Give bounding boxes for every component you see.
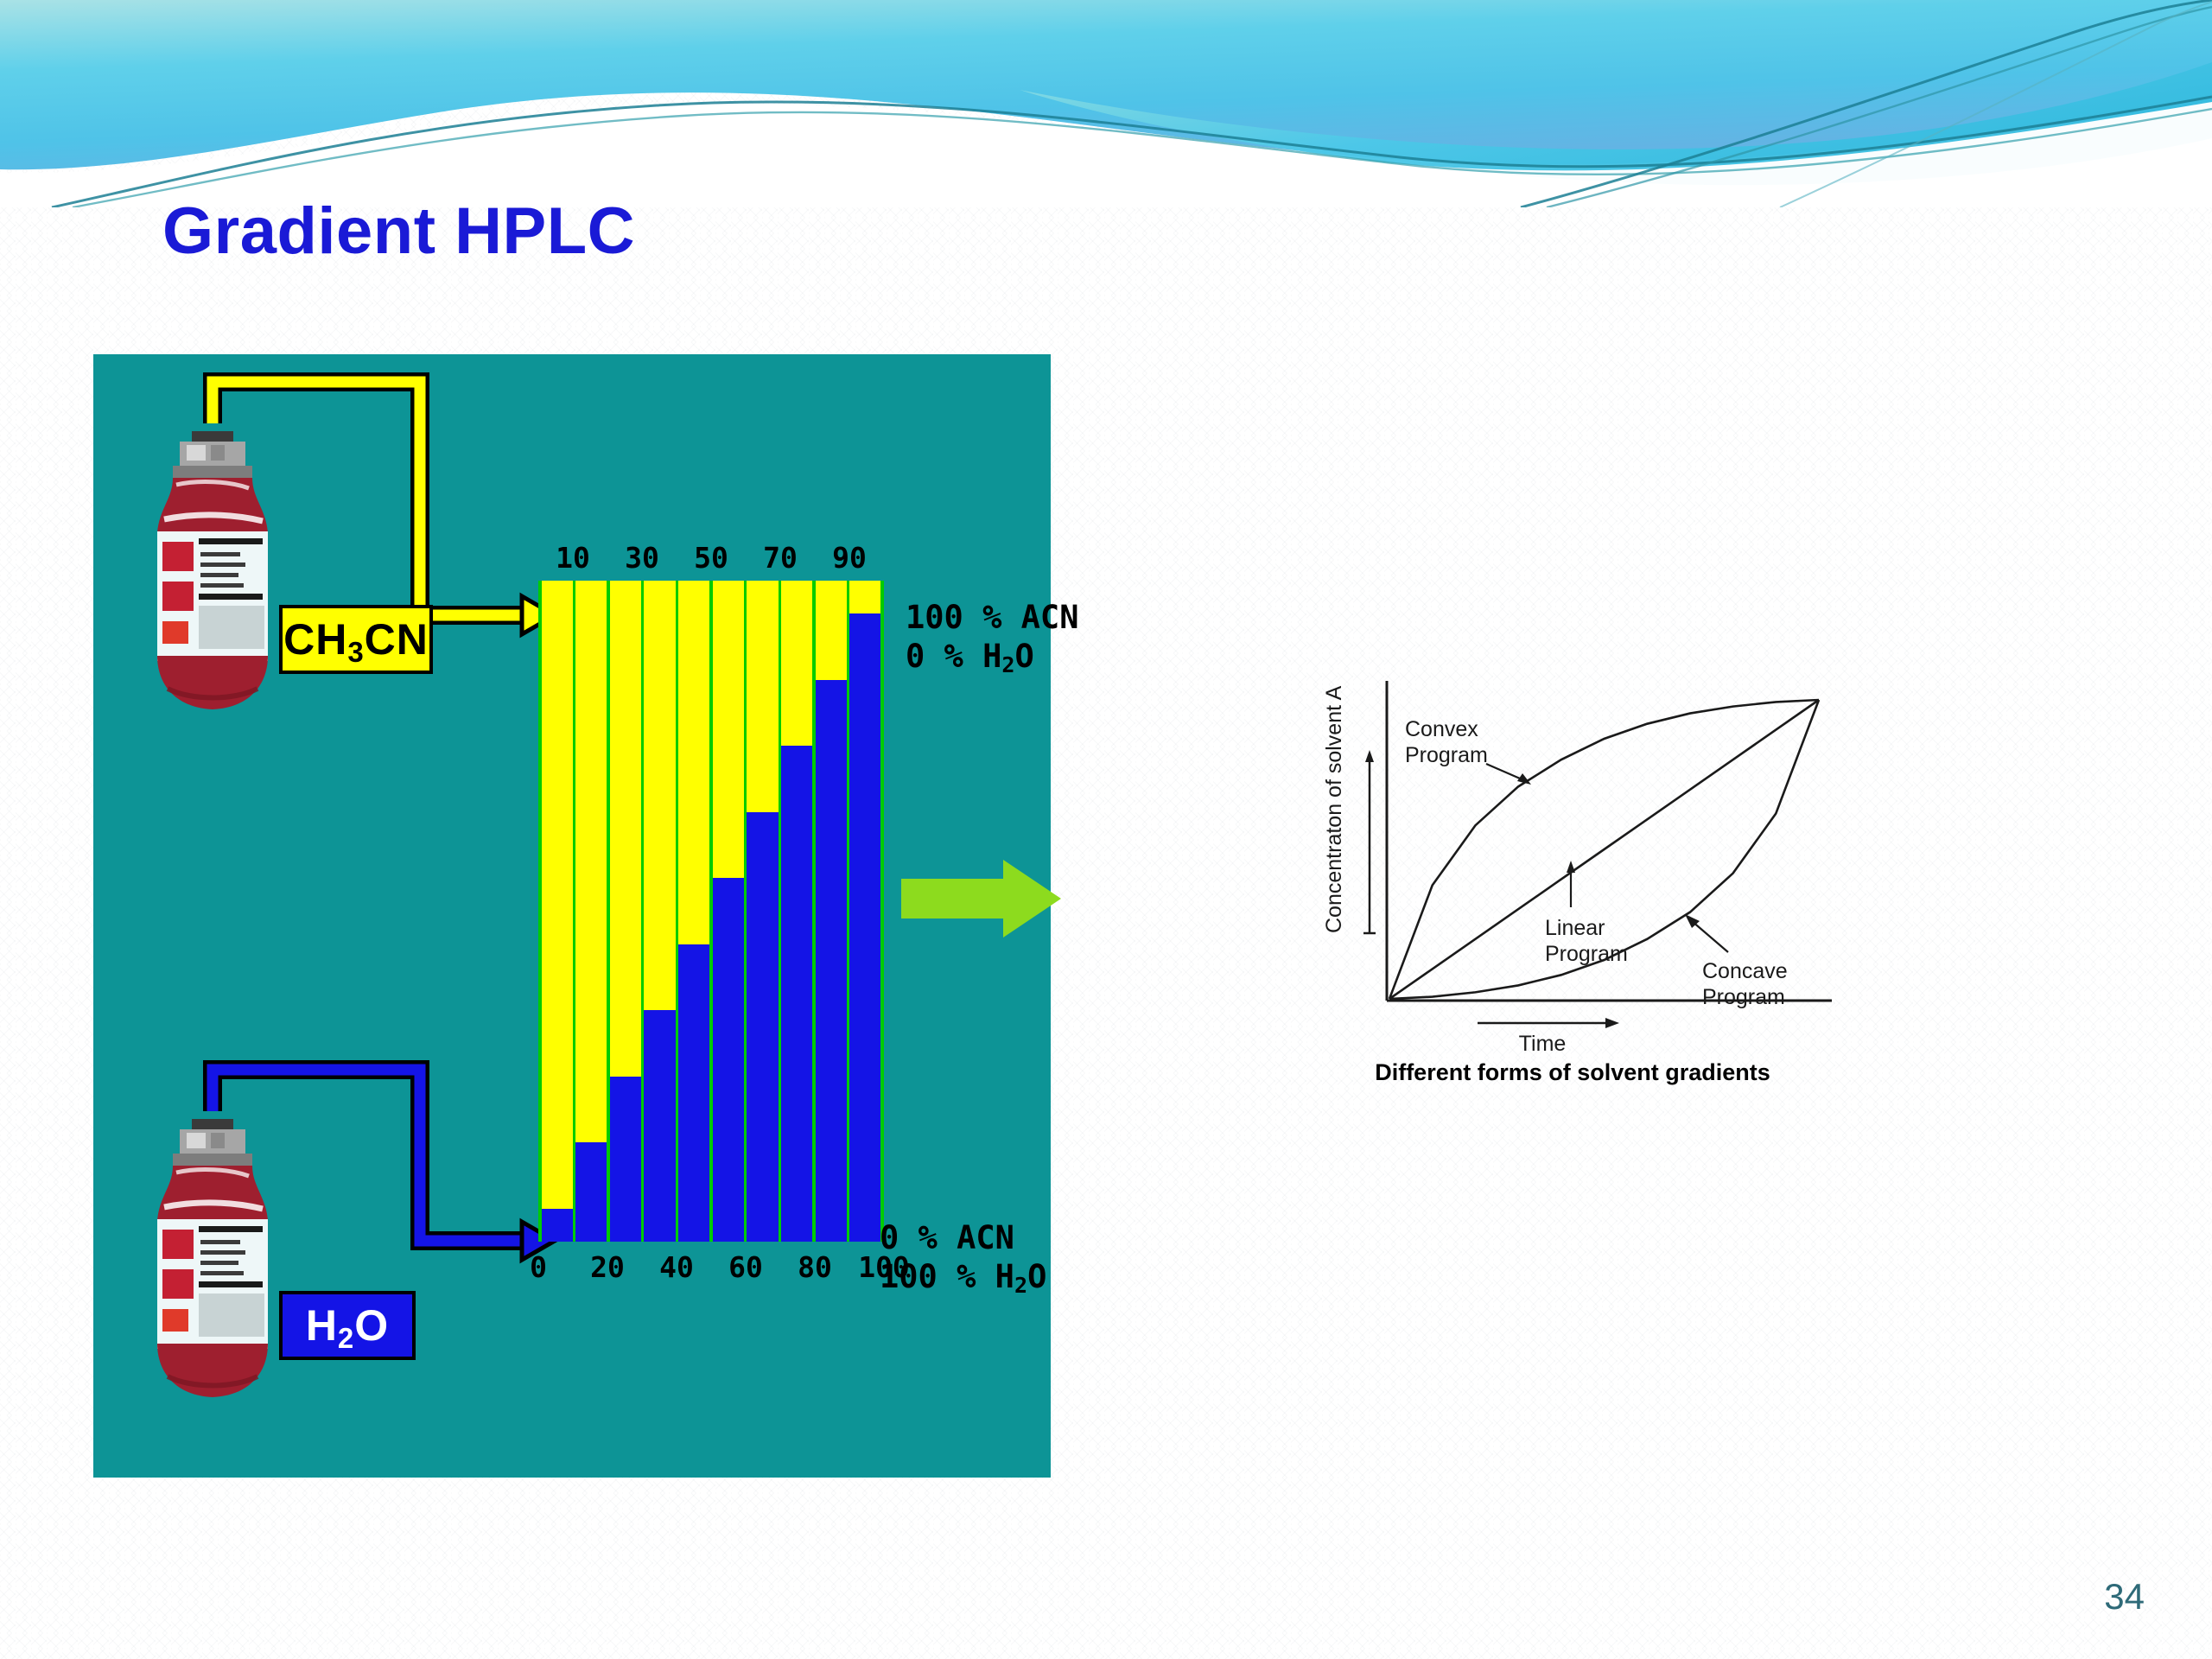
annotation-concave-line1: Concave [1702,959,1788,983]
gradient-column-acn [644,581,675,1010]
bottom-scale-tick: 20 [590,1250,625,1284]
output-arrow-svg [901,860,1061,938]
label-water: H2O [279,1291,416,1360]
annotation-convex-line1: Convex [1405,717,1478,741]
gradient-column-water [610,1077,641,1242]
annotation-convex-line2: Program [1405,743,1488,767]
bottom-scale-tick: 0 [530,1250,547,1284]
solvent-gradient-forms-chart: Concentraton of solvent A Time Different… [1322,674,1858,1192]
bottle-acn-svg [147,429,278,715]
gradient-column-acn [816,581,847,680]
gradient-column-water [849,613,880,1242]
x-axis-label-group: Time [1478,1018,1619,1056]
composition-bottom-line2: 100 % H2O [880,1257,1046,1296]
gradient-column-water [713,878,744,1242]
gradient-column [747,581,778,1242]
gradient-column-water [678,944,709,1242]
annotation-linear-line1: Linear [1545,916,1605,940]
banner-svg [0,0,2212,207]
annotation-linear-line2: Program [1545,942,1628,966]
solvent-bottle-acn [147,429,278,715]
x-axis-direction-arrowhead [1605,1018,1619,1028]
composition-top-line1: 100 % ACN [906,598,1078,637]
page-title: Gradient HPLC [162,194,635,269]
gradient-column [816,581,847,1242]
page-number: 34 [2104,1576,2145,1618]
gradient-column-acn [747,581,778,812]
gradient-column [849,581,880,1242]
bottom-scale-tick: 80 [798,1250,832,1284]
gradient-column [713,581,744,1242]
gradient-column-water [575,1142,607,1242]
annotation-concave-line2: Program [1702,985,1785,1009]
gradient-column [610,581,641,1242]
gradient-column-acn [575,581,607,1142]
annotation-concave: Concave Program [1685,914,1788,1009]
x-axis-label: Time [1519,1032,1567,1056]
gradient-column [644,581,675,1242]
gradient-column [781,581,812,1242]
composition-note-bottom: 0 % ACN 100 % H2O [880,1218,1046,1296]
bottle-water-svg [147,1117,278,1402]
top-scale-tick: 90 [832,541,867,575]
gradient-column [575,581,607,1242]
annotation-convex: Convex Program [1405,717,1531,785]
top-scale-tick: 50 [694,541,728,575]
chart-caption: Different forms of solvent gradients [1375,1059,1770,1085]
bottom-scale-tick: 60 [728,1250,763,1284]
top-scale-tick: 30 [625,541,659,575]
gradient-column-water [816,680,847,1242]
y-axis-direction-arrowhead [1365,750,1374,762]
gradient-column-acn [781,581,812,746]
gradient-column-acn [610,581,641,1077]
y-axis-label-group: Concentraton of solvent A [1322,685,1376,933]
label-acetonitrile: CH3CN [279,605,433,674]
gradient-column-water [781,746,812,1242]
gradient-column-water [542,1209,573,1242]
annotation-concave-leader [1692,921,1728,952]
gradient-column-water [747,812,778,1242]
gradient-column-water [644,1010,675,1242]
composition-bottom-line1: 0 % ACN [880,1218,1046,1257]
gradient-column-acn [542,581,573,1209]
solvent-bottle-water [147,1117,278,1402]
gradient-column-acn [713,581,744,878]
output-flow-arrow [901,860,1061,938]
composition-top-line2: 0 % H2O [906,637,1078,676]
gradient-column [678,581,709,1242]
decorative-wave-banner [0,0,2212,207]
y-axis-label: Concentraton of solvent A [1322,685,1346,933]
composition-note-top: 100 % ACN 0 % H2O [906,598,1078,676]
annotation-linear-arrowhead [1567,861,1575,873]
gradient-mixing-diagram: CH3CN H2O 1030507090 020406080100 100 % … [93,354,1051,1478]
top-scale-tick: 70 [763,541,798,575]
gradient-column-acn [678,581,709,944]
solvent-chart-svg: Concentraton of solvent A Time Different… [1322,674,1858,1192]
gradient-composition-block [538,581,884,1242]
bottom-scale-tick: 40 [659,1250,694,1284]
gradient-column-acn [849,581,880,613]
annotation-linear: Linear Program [1545,861,1628,966]
top-scale-tick: 10 [556,541,590,575]
gradient-column [542,581,573,1242]
